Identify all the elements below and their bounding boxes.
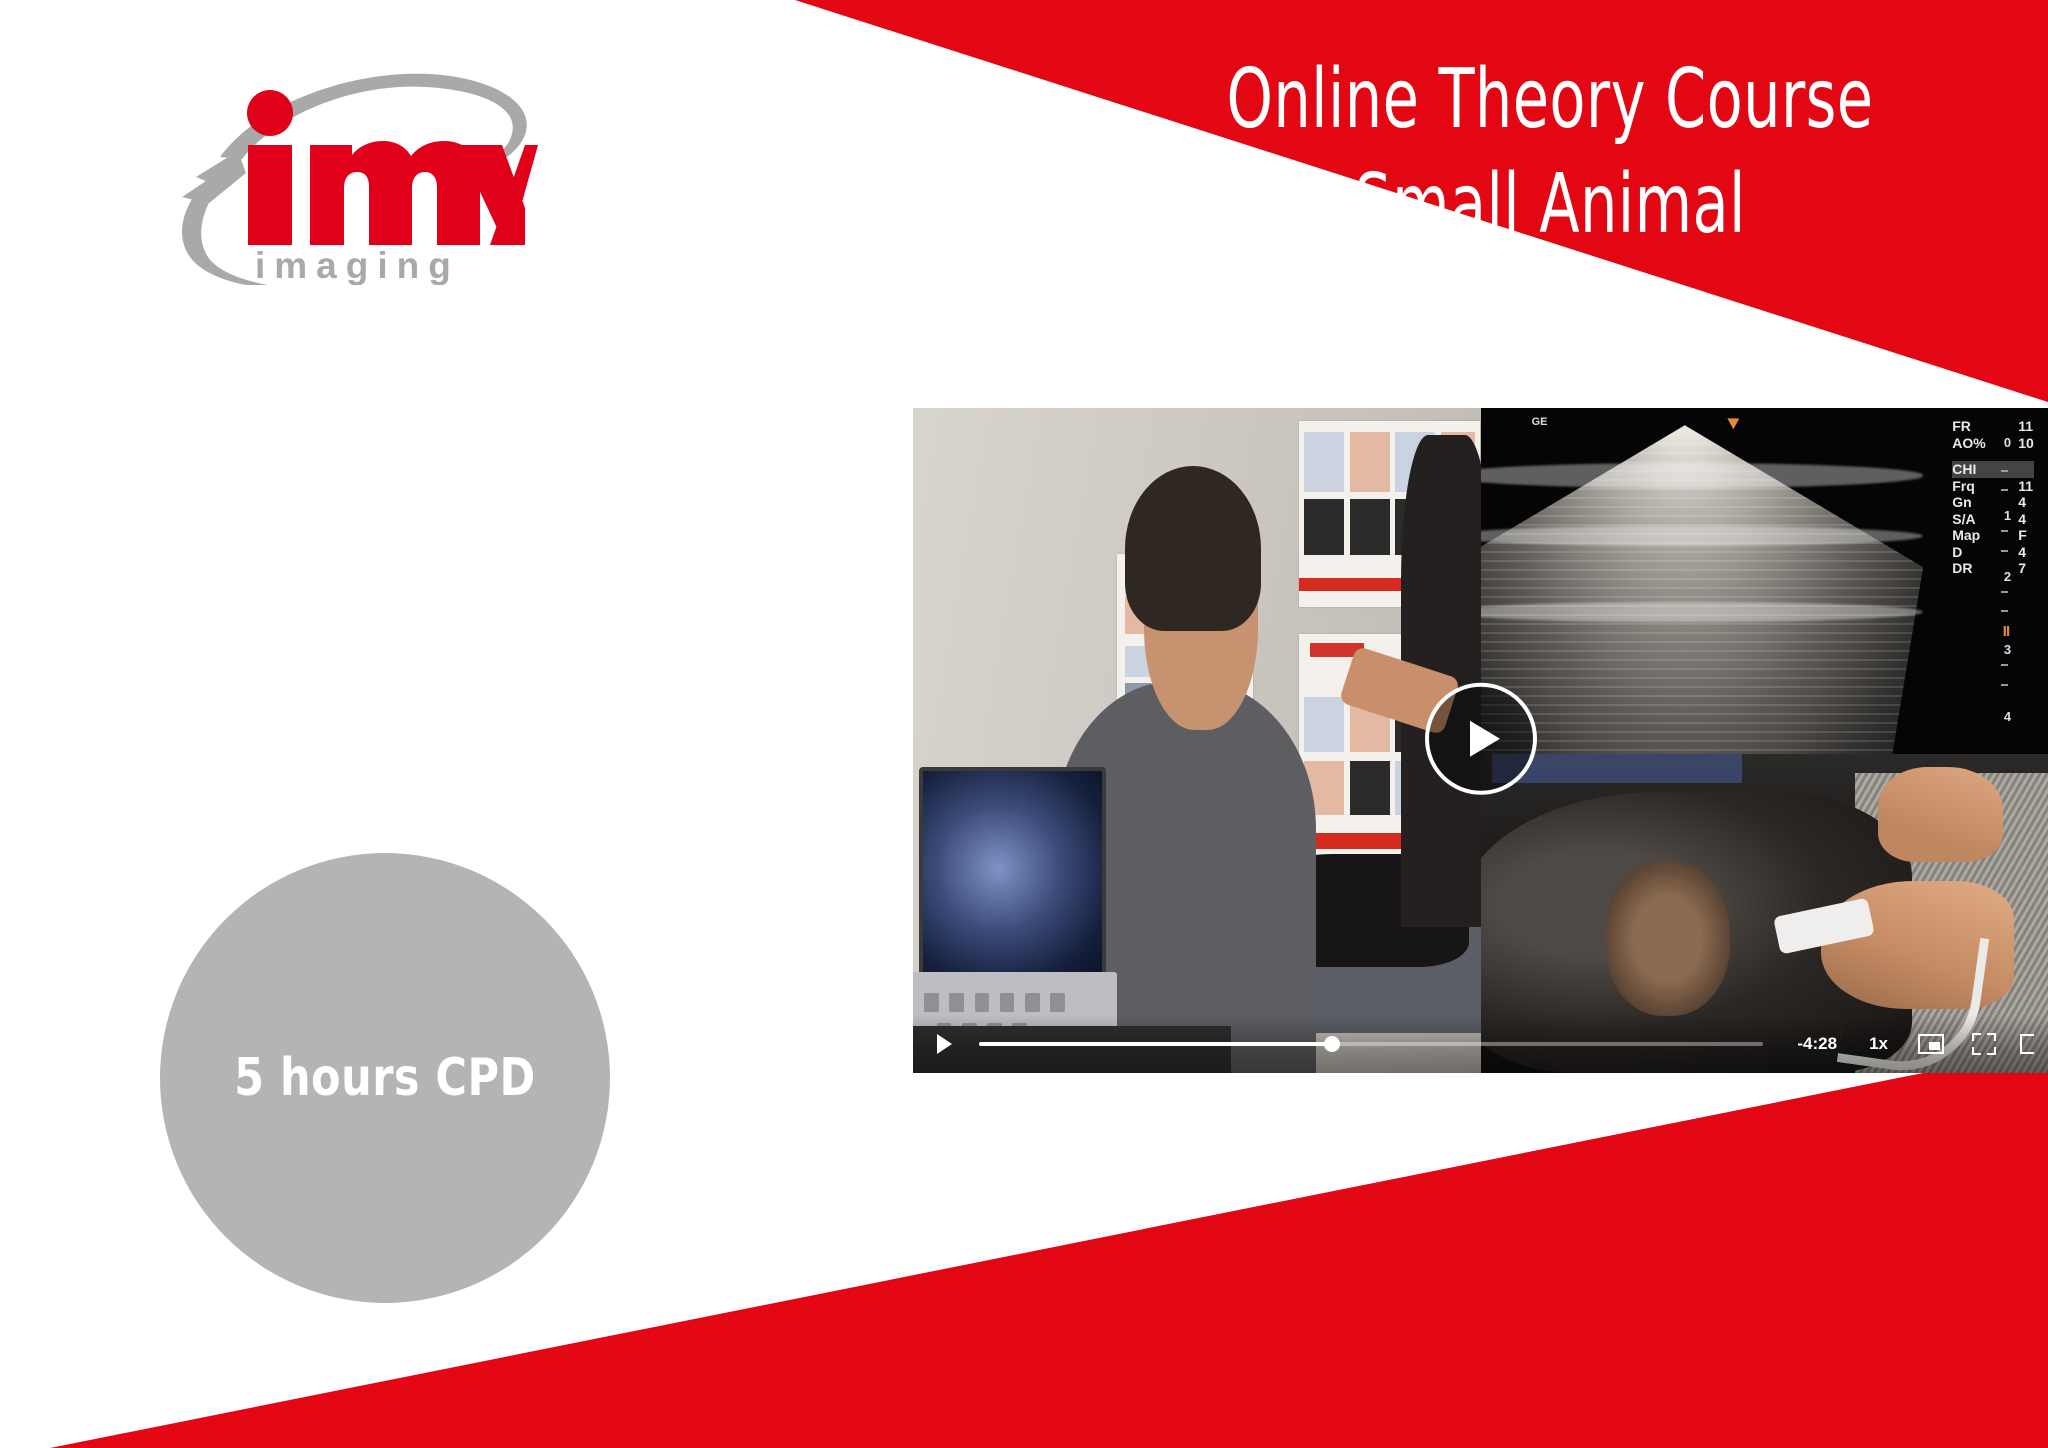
param-key: Frq bbox=[1952, 478, 2000, 495]
assistant-person bbox=[1401, 435, 1480, 927]
time-remaining: -4:28 bbox=[1797, 1034, 1837, 1054]
param-key: Map bbox=[1952, 527, 2000, 544]
play-button-overlay[interactable] bbox=[1425, 682, 1537, 794]
param-value: F bbox=[2018, 527, 2027, 544]
play-icon bbox=[937, 1034, 952, 1054]
ultrasound-image: GE FR11 AO%10 CHI Frq11 Gn4 S/A4 MapF D4… bbox=[1481, 408, 2048, 754]
param-key: DR bbox=[1952, 560, 2000, 577]
param-value: 10 bbox=[2018, 435, 2034, 452]
ultrasound-pane: GE FR11 AO%10 CHI Frq11 Gn4 S/A4 MapF D4… bbox=[1481, 408, 2048, 1073]
title-line-1: Online Theory Course bbox=[1190, 48, 1910, 153]
progress-knob[interactable] bbox=[1324, 1036, 1340, 1052]
poster-canvas: imaging Online Theory Course Small Anima… bbox=[0, 0, 2048, 1448]
logo-wordmark-imv bbox=[247, 90, 538, 245]
focus-marker: II bbox=[2003, 623, 2009, 640]
param-key: Gn bbox=[1952, 494, 2000, 511]
param-key: AO% bbox=[1952, 435, 2000, 452]
param-key: CHI bbox=[1952, 461, 2000, 478]
cpd-badge-label: 5 hours CPD bbox=[234, 1048, 536, 1108]
param-value: 11 bbox=[2018, 418, 2033, 435]
progress-played bbox=[979, 1042, 1332, 1046]
imv-imaging-logo: imaging bbox=[70, 45, 540, 285]
clinic-photo-pane bbox=[913, 408, 1481, 1073]
depth-tick: 4 bbox=[2004, 709, 2011, 724]
play-button[interactable] bbox=[927, 1027, 961, 1061]
probe-marker-icon bbox=[1727, 418, 1739, 429]
ultrasound-corner-tag: GE bbox=[1532, 417, 1548, 428]
depth-tick: 0 bbox=[2004, 435, 2011, 450]
param-key: D bbox=[1952, 544, 2000, 561]
param-value: 4 bbox=[2018, 494, 2026, 511]
more-options-icon[interactable] bbox=[2020, 1034, 2034, 1054]
depth-tick: 3 bbox=[2004, 642, 2011, 657]
picture-in-picture-icon[interactable] bbox=[1918, 1034, 1944, 1054]
video-player[interactable]: GE FR11 AO%10 CHI Frq11 Gn4 S/A4 MapF D4… bbox=[913, 408, 2048, 1073]
title-line-2: Small Animal bbox=[1190, 153, 1910, 258]
video-controls-bar[interactable]: -4:28 1x bbox=[913, 1015, 2048, 1073]
play-icon bbox=[1470, 720, 1500, 756]
cpd-badge: 5 hours CPD bbox=[160, 853, 610, 1303]
param-key: S/A bbox=[1952, 511, 2000, 528]
progress-scrubber[interactable] bbox=[979, 1027, 1763, 1061]
ultrasound-parameters: FR11 AO%10 CHI Frq11 Gn4 S/A4 MapF D4 DR… bbox=[1952, 418, 2034, 577]
param-value: 4 bbox=[2018, 544, 2026, 561]
param-key: FR bbox=[1952, 418, 2000, 435]
depth-tick: 2 bbox=[2004, 569, 2011, 584]
param-value: 7 bbox=[2018, 560, 2026, 577]
page-title: Online Theory Course Small Animal bbox=[1100, 48, 2000, 258]
logo-artwork: imaging bbox=[70, 45, 540, 285]
depth-tick: 1 bbox=[2004, 508, 2011, 523]
param-value: 4 bbox=[2018, 511, 2026, 528]
param-value: 11 bbox=[2018, 478, 2033, 495]
playback-speed-button[interactable]: 1x bbox=[1869, 1034, 1888, 1054]
fullscreen-icon[interactable] bbox=[1972, 1033, 1996, 1055]
logo-subtitle: imaging bbox=[255, 245, 460, 285]
